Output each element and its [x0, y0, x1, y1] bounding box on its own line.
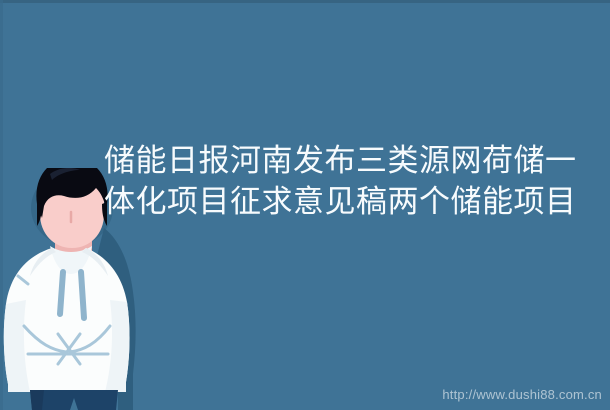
top-edge-divider: [0, 0, 610, 3]
watermark-url: http://www.dushi88.com.cn: [442, 387, 602, 402]
pants: [30, 390, 118, 410]
headline-line-1: 储能日报河南发布三类源网荷储一: [104, 140, 608, 181]
headline-line-2: 体化项目征求意见稿两个储能项目: [104, 181, 608, 222]
headline-title: 储能日报河南发布三类源网荷储一 体化项目征求意见稿两个储能项目: [104, 140, 608, 222]
hoodie: [4, 246, 130, 392]
promo-banner: 储能日报河南发布三类源网荷储一 体化项目征求意见稿两个储能项目 http://w…: [0, 0, 610, 410]
